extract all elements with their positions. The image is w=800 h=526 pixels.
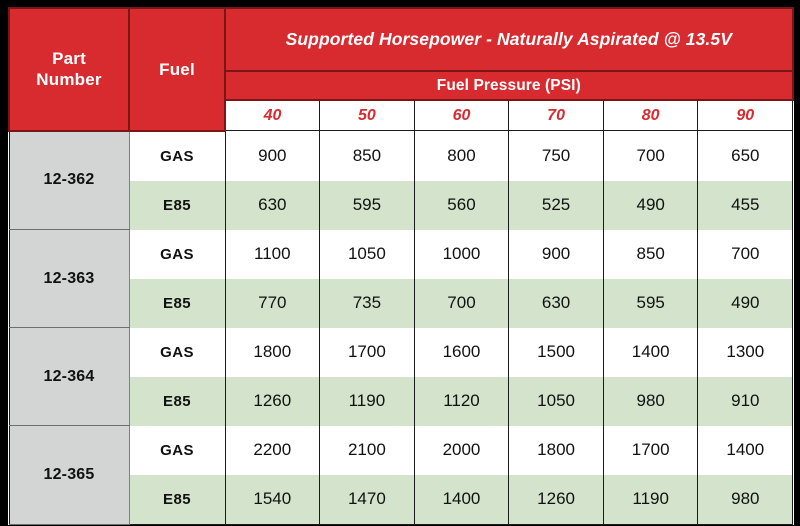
- horsepower-cell: 1260: [509, 475, 604, 525]
- table-body: 12-362GAS900850800750700650E856305955605…: [9, 131, 793, 525]
- horsepower-cell: 1540: [225, 475, 320, 525]
- header-part-number-line1: Part: [52, 49, 86, 68]
- horsepower-cell: 700: [603, 131, 698, 181]
- table-frame: Part Number Fuel Supported Horsepower - …: [0, 0, 800, 526]
- horsepower-cell: 455: [698, 181, 793, 230]
- horsepower-cell: 770: [225, 279, 320, 328]
- header-fuel-pressure: Fuel Pressure (PSI): [225, 71, 793, 100]
- horsepower-cell: 735: [320, 279, 415, 328]
- fuel-type-cell: GAS: [129, 230, 225, 279]
- horsepower-cell: 900: [225, 131, 320, 181]
- horsepower-cell: 1190: [603, 475, 698, 525]
- horsepower-cell: 1050: [509, 377, 604, 426]
- part-number-cell: 12-365: [9, 426, 129, 525]
- part-number-cell: 12-363: [9, 230, 129, 328]
- horsepower-cell: 1800: [225, 328, 320, 377]
- table-row: 12-364GAS180017001600150014001300: [9, 328, 793, 377]
- horsepower-cell: 1700: [320, 328, 415, 377]
- fuel-type-cell: GAS: [129, 328, 225, 377]
- horsepower-cell: 2200: [225, 426, 320, 475]
- horsepower-cell: 1400: [698, 426, 793, 475]
- horsepower-cell: 1400: [414, 475, 509, 525]
- fuel-type-cell: E85: [129, 475, 225, 525]
- horsepower-cell: 1100: [225, 230, 320, 279]
- header-psi-80: 80: [603, 100, 698, 131]
- horsepower-cell: 2000: [414, 426, 509, 475]
- table-row: 12-363GAS110010501000900850700: [9, 230, 793, 279]
- horsepower-cell: 2100: [320, 426, 415, 475]
- horsepower-cell: 1470: [320, 475, 415, 525]
- horsepower-cell: 490: [698, 279, 793, 328]
- horsepower-cell: 1000: [414, 230, 509, 279]
- fuel-type-cell: E85: [129, 279, 225, 328]
- horsepower-table: Part Number Fuel Supported Horsepower - …: [8, 7, 794, 525]
- header-part-number: Part Number: [9, 8, 129, 131]
- fuel-type-cell: E85: [129, 181, 225, 230]
- horsepower-cell: 1800: [509, 426, 604, 475]
- header-psi-70: 70: [509, 100, 604, 131]
- horsepower-cell: 900: [509, 230, 604, 279]
- header-psi-90: 90: [698, 100, 793, 131]
- horsepower-cell: 1400: [603, 328, 698, 377]
- horsepower-cell: 1260: [225, 377, 320, 426]
- horsepower-cell: 750: [509, 131, 604, 181]
- horsepower-cell: 525: [509, 181, 604, 230]
- horsepower-cell: 650: [698, 131, 793, 181]
- horsepower-cell: 630: [509, 279, 604, 328]
- fuel-type-cell: GAS: [129, 426, 225, 475]
- header-fuel: Fuel: [129, 8, 225, 131]
- table-row: 12-365GAS220021002000180017001400: [9, 426, 793, 475]
- horsepower-cell: 1600: [414, 328, 509, 377]
- horsepower-cell: 490: [603, 181, 698, 230]
- horsepower-cell: 910: [698, 377, 793, 426]
- header-psi-40: 40: [225, 100, 320, 131]
- header-psi-60: 60: [414, 100, 509, 131]
- horsepower-cell: 595: [603, 279, 698, 328]
- horsepower-cell: 1050: [320, 230, 415, 279]
- horsepower-cell: 1190: [320, 377, 415, 426]
- fuel-type-cell: GAS: [129, 131, 225, 181]
- header-part-number-line2: Number: [36, 70, 101, 89]
- horsepower-cell: 700: [414, 279, 509, 328]
- horsepower-cell: 560: [414, 181, 509, 230]
- horsepower-cell: 1300: [698, 328, 793, 377]
- horsepower-cell: 700: [698, 230, 793, 279]
- part-number-cell: 12-362: [9, 131, 129, 230]
- header-psi-50: 50: [320, 100, 415, 131]
- horsepower-cell: 1500: [509, 328, 604, 377]
- table-head: Part Number Fuel Supported Horsepower - …: [9, 8, 793, 131]
- horsepower-cell: 1700: [603, 426, 698, 475]
- fuel-type-cell: E85: [129, 377, 225, 426]
- horsepower-cell: 850: [603, 230, 698, 279]
- part-number-cell: 12-364: [9, 328, 129, 426]
- horsepower-cell: 800: [414, 131, 509, 181]
- header-row-title: Part Number Fuel Supported Horsepower - …: [9, 8, 793, 71]
- horsepower-cell: 980: [603, 377, 698, 426]
- horsepower-cell: 980: [698, 475, 793, 525]
- header-title: Supported Horsepower - Naturally Aspirat…: [225, 8, 793, 71]
- horsepower-cell: 850: [320, 131, 415, 181]
- horsepower-cell: 1120: [414, 377, 509, 426]
- table-sheet: Part Number Fuel Supported Horsepower - …: [8, 7, 792, 517]
- horsepower-cell: 630: [225, 181, 320, 230]
- horsepower-cell: 595: [320, 181, 415, 230]
- table-row: 12-362GAS900850800750700650: [9, 131, 793, 181]
